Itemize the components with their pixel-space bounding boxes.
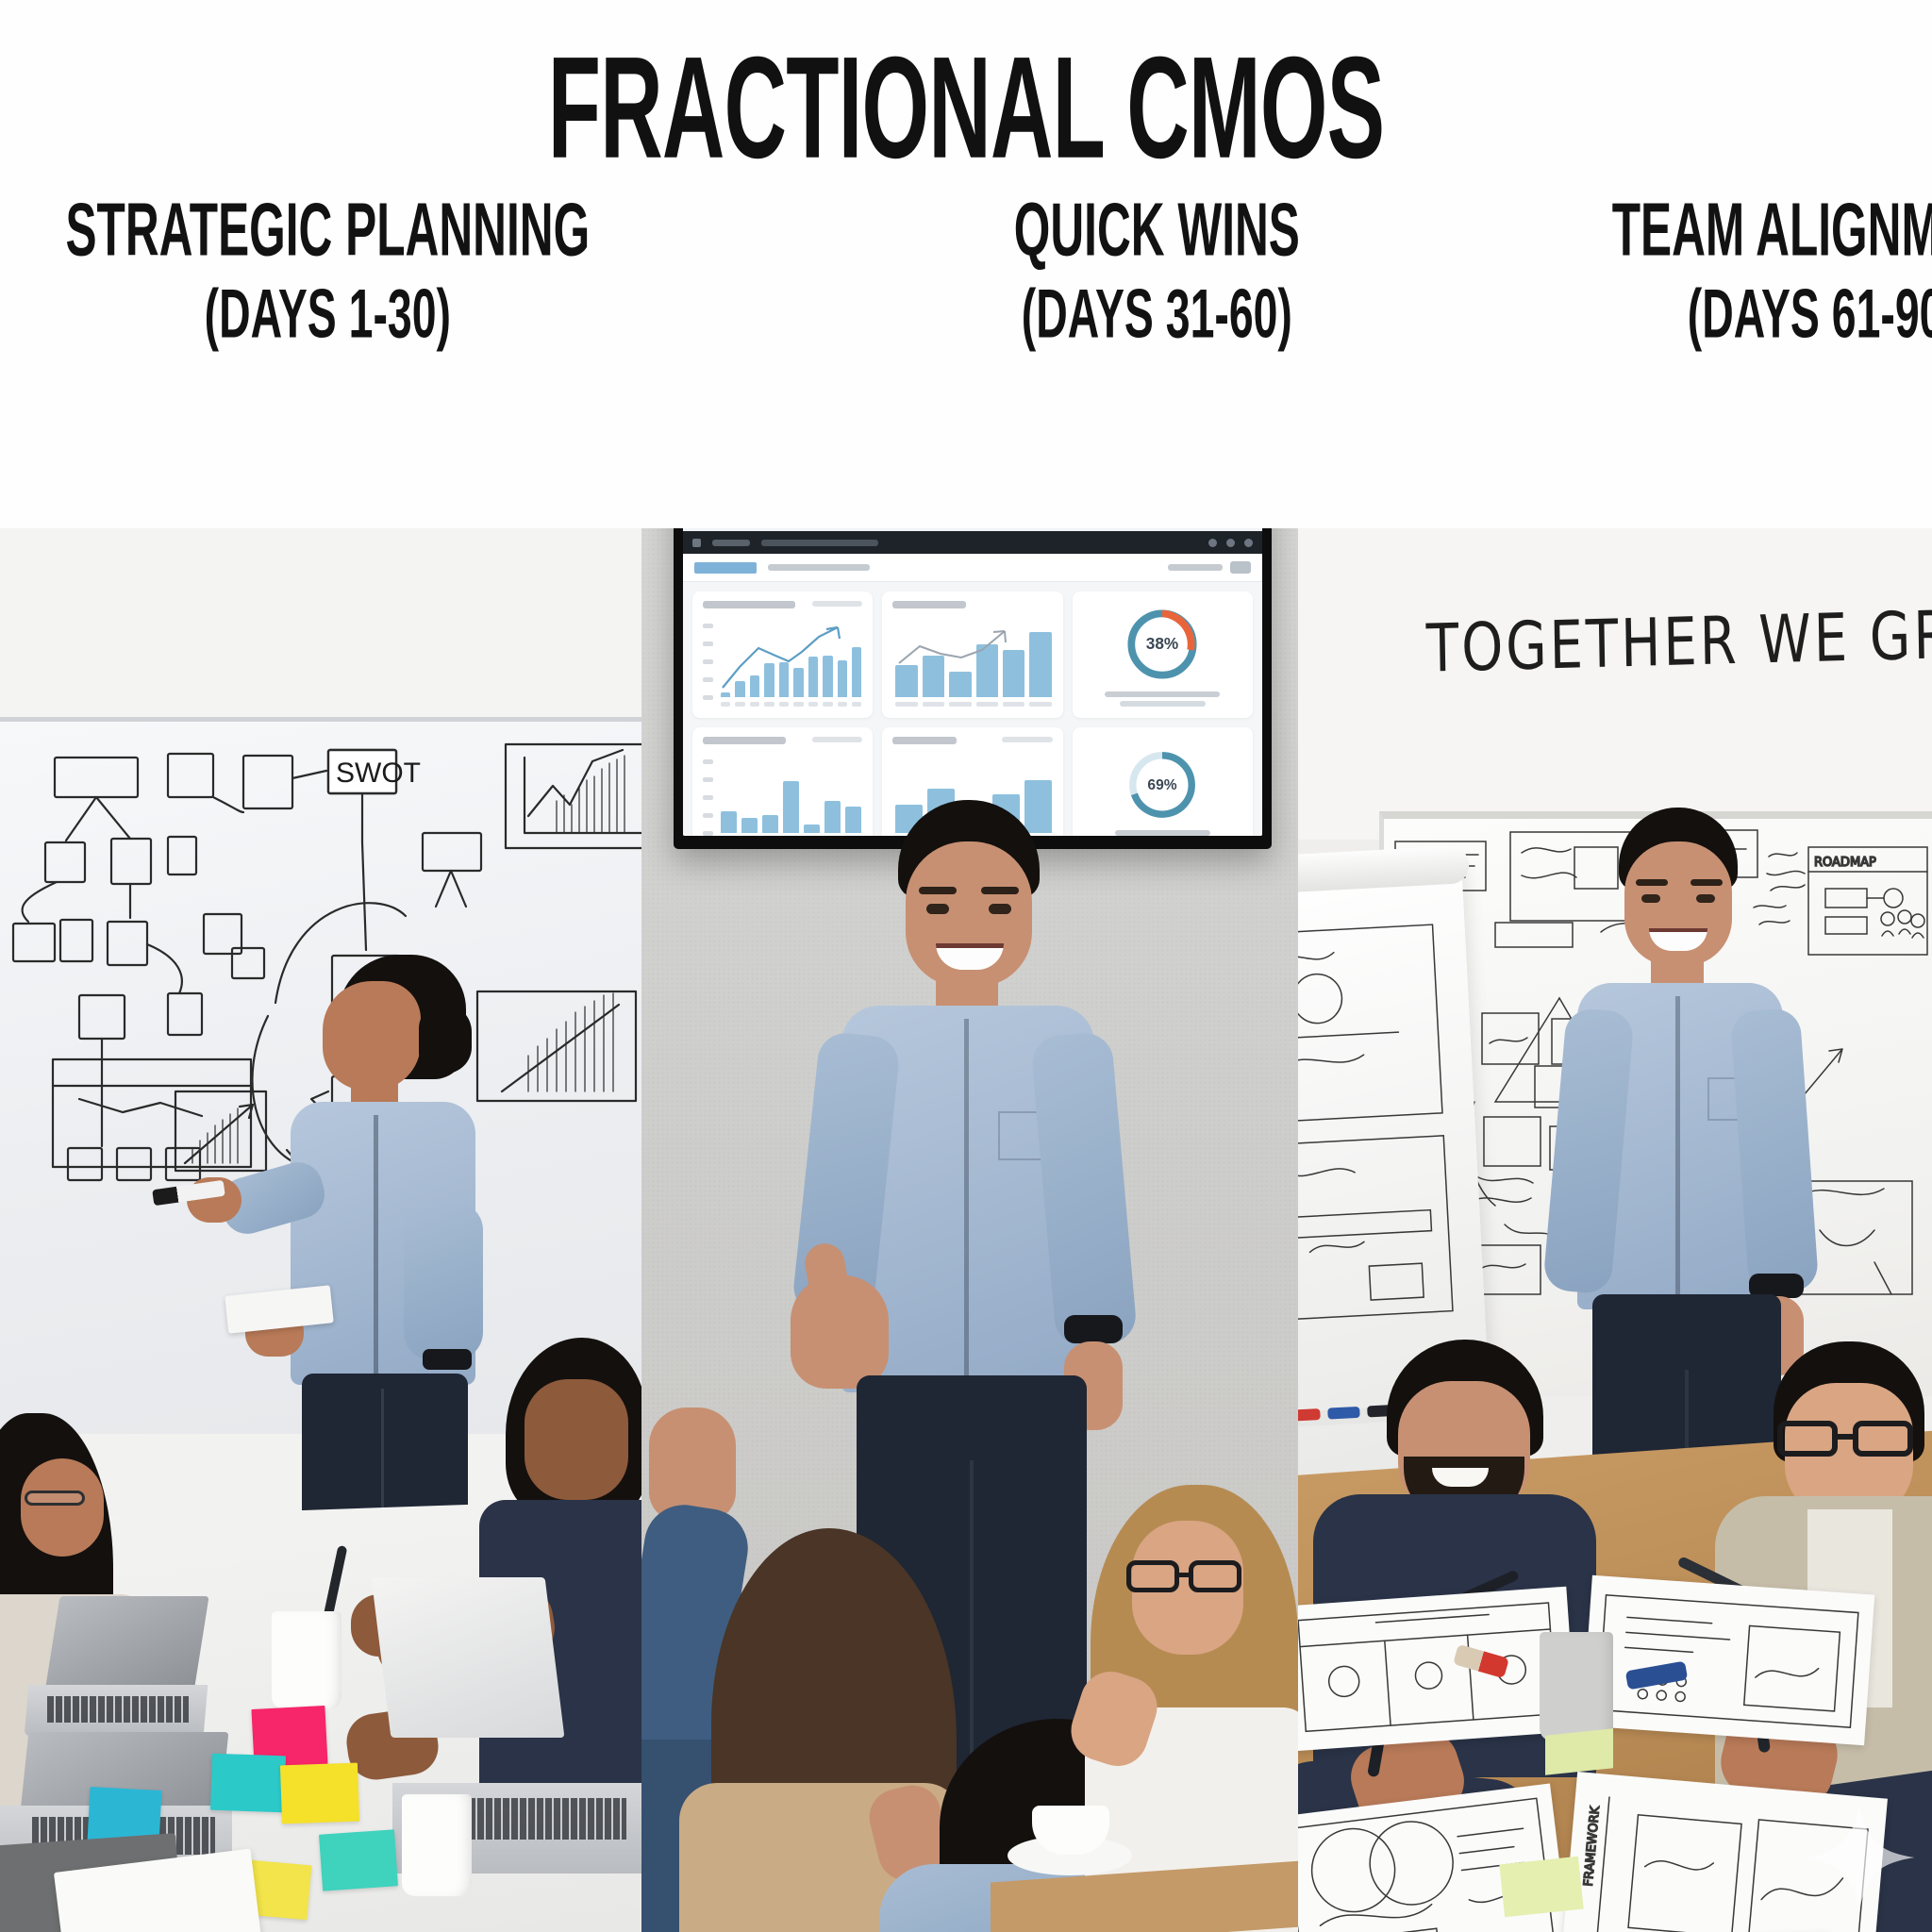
man-shirt-placket [1675,996,1680,1307]
panel-team-alignment: TOGETHER WE GROW [1298,528,1932,1932]
man-eyebrow-right [1690,879,1723,886]
presenter-shirt-placket [374,1115,378,1381]
wall-text-label: TOGETHER WE GROW [1425,597,1932,688]
laptop-left [26,1596,202,1747]
card-metric [1002,737,1053,742]
card-title [892,601,966,608]
app-nav-item[interactable] [712,540,750,546]
seated-person-left-glasses-icon [25,1491,85,1506]
presenter-eyebrow-right [981,887,1019,894]
card-title [892,737,957,744]
y-axis [703,624,716,697]
coffee-mug-1 [272,1611,341,1709]
marker-blue-icon [1327,1407,1360,1420]
dashboard-card-revenue-growth[interactable] [692,591,873,718]
presenter-bun [419,1004,472,1074]
man-eyebrow-left [1636,879,1668,886]
coffee-mug-2 [402,1794,472,1896]
card-title [703,601,795,608]
card-caption [1120,701,1206,707]
dashboard-card-grid: 38% [683,582,1262,836]
svg-text:69%: 69% [1148,776,1177,792]
x-axis [895,702,1051,708]
presenter-watch-icon [423,1349,472,1370]
phase-header-quick-wins: QUICK WINS (DAYS 31-60) [863,193,1507,335]
presenter-eye-right [989,904,1011,914]
man-eye-left [1641,894,1660,903]
wall-background [0,528,641,722]
dashboard-screen: 38% [683,528,1262,836]
card-metric [812,737,863,742]
app-topbar [683,531,1262,554]
sparkle-watermark-icon [1802,1796,1917,1919]
phase-header-row: STRATEGIC PLANNING (DAYS 1-30) QUICK WIN… [0,193,1932,335]
phase-subtitle: (DAYS 61-90) [1570,280,1932,349]
dashboard-action-button[interactable] [1230,561,1251,574]
y-axis [703,759,716,833]
seated-person-left-face [21,1458,104,1557]
presenter-face [323,981,421,1091]
sketch-paper-2 [1582,1575,1874,1746]
presenter-shirt-placket [964,1019,969,1389]
x-axis [721,702,861,708]
dashboard-card-pipeline-conversion[interactable] [882,591,1062,718]
coffee-mug [1540,1632,1613,1741]
dashboard-header [683,554,1262,582]
presenter-eye-left [926,904,949,914]
card-title [703,737,786,744]
sticky-note-green-1 [1545,1728,1613,1775]
svg-text:ROADMAP: ROADMAP [1814,856,1876,870]
panel-strategic-planning: SWOT [0,528,641,1932]
wall-background [1298,528,1932,840]
brand-logo [694,562,757,574]
wall-handwritten-text: TOGETHER WE GROW [1426,619,1932,680]
notification-icon[interactable] [1208,539,1217,547]
card-caption [1105,691,1220,697]
phase-title: STRATEGIC PLANNING [65,193,590,268]
avatar[interactable] [1244,539,1253,547]
seated-man-right-glasses-icon [1777,1421,1917,1457]
app-logo-icon [692,539,701,547]
phase-header-team-alignment: TEAM ALIGNMENT (DAYS 61-90) [1507,193,1932,335]
paper-sketch-icon [1298,1587,1576,1752]
dashboard-card-goal-attainment[interactable]: 38% [1073,591,1253,718]
raised-hand [649,1407,736,1521]
donut-chart-icon: 69% [1124,746,1201,824]
presenter-woman [279,955,487,1558]
header-banner: FRACTIONAL CMOS STRATEGIC PLANNING (DAYS… [0,0,1932,528]
page-title: FRACTIONAL CMOS [212,36,1719,180]
marker-red-icon [1298,1408,1321,1422]
flip-chart-roll [1298,845,1470,895]
panel-quick-wins: 38% [641,528,1298,1932]
trend-line [721,622,845,697]
dashboard-user-label [1168,564,1223,571]
sticky-note-cyan [210,1754,286,1813]
phase-title: QUICK WINS [922,193,1391,268]
man-eye-right [1696,894,1715,903]
svg-text:38%: 38% [1146,634,1178,653]
presenter-wristwatch-icon [1064,1315,1123,1343]
presenter-eyebrow-left [919,887,957,894]
dashboard-breadcrumb [768,564,870,571]
svg-text:FRAMEWORK: FRAMEWORK [1582,1806,1603,1887]
card-metric [812,601,863,607]
trend-line [895,622,1024,697]
donut-chart-icon: 38% [1122,604,1203,685]
seated-person-right-face [525,1379,628,1500]
settings-icon[interactable] [1226,539,1235,547]
photo-panel-row: SWOT [0,528,1932,1932]
svg-text:SWOT: SWOT [336,758,421,789]
phase-subtitle: (DAYS 1-30) [65,280,590,349]
paper-sketch-icon [1582,1575,1874,1746]
presenter-arm-left [404,1202,483,1360]
phase-title: TEAM ALIGNMENT [1570,193,1932,268]
sticky-note-aqua [319,1829,398,1890]
phase-subtitle: (DAYS 31-60) [922,280,1391,349]
audience-woman-right-glasses-icon [1126,1560,1245,1592]
card-caption [1115,830,1211,836]
app-nav-item[interactable] [761,540,878,546]
laptop-right [381,1577,589,1785]
sticky-note-yellow [280,1763,359,1824]
sketch-paper-1 [1298,1587,1576,1752]
phase-header-strategic-planning: STRATEGIC PLANNING (DAYS 1-30) [0,193,863,335]
sticky-note-green-2 [1499,1857,1583,1917]
